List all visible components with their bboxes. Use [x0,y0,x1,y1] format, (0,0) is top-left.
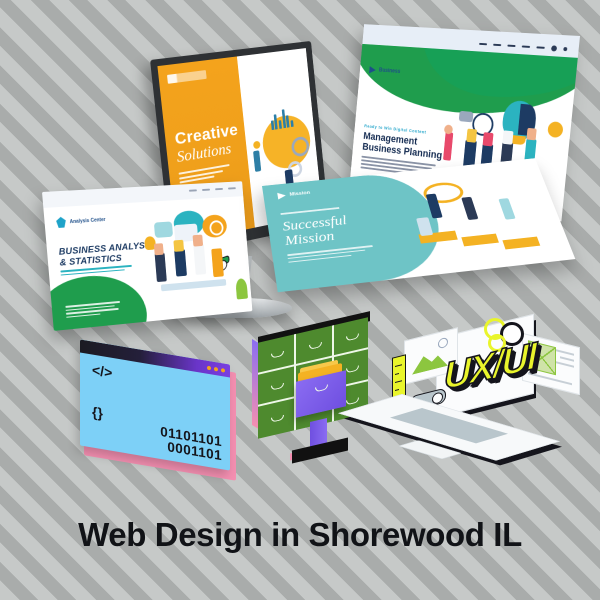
person-figure [502,130,513,144]
person-figure [498,198,515,220]
brand-triangle-icon [277,192,286,200]
speech-bubble-icon [459,111,474,123]
image-canvas: Creative Solutions [0,0,600,600]
brand-label: Mission [289,190,310,197]
drawer-handle-icon [271,351,284,359]
person-figure [443,132,453,161]
speech-bubble-icon [154,221,173,238]
window-dot-icon[interactable] [214,366,218,371]
bar-chart-icon [270,108,294,130]
brand-logo-icon [167,70,207,84]
business-analysis-statistics-page: Analysis Center BUSINESS ANALYSIS & STAT… [42,192,278,352]
meeting-illustration [131,204,250,319]
step-block [461,234,499,247]
file-cabinet-monitor [252,324,387,474]
drawer-handle-icon [346,365,359,373]
person-figure [155,253,167,282]
person-figure [193,244,206,275]
brand-mark-icon [56,217,67,228]
coin-icon [547,121,564,138]
page-title: Web Design in Shorewood IL [0,516,600,554]
table-surface [161,279,227,291]
person-figure [193,235,204,247]
mountain-image-icon [412,346,448,375]
mission-illustration [400,168,569,270]
person-figure [174,249,187,276]
plant-icon [235,278,248,299]
curly-brace-icon: {} [92,403,103,421]
drawer-handle-icon [346,333,359,341]
green-page-nav[interactable] [479,41,568,52]
nav-avatar-icon[interactable] [551,45,557,51]
brand-label: Analysis Center [69,217,105,225]
person-figure [466,129,477,143]
drawer-handle-icon [271,415,284,423]
person-figure [154,243,164,255]
person-figure [173,240,184,252]
nav-menu-icon[interactable] [563,47,567,51]
drawer-handle-icon [271,383,284,391]
analysis-browser-bar [42,181,243,208]
analysis-green-blob [42,272,150,331]
brand-label: Business [379,68,401,75]
uxui-laptop-illustration: UX/UI [388,318,588,493]
drawer-handle-icon [309,342,322,350]
person-figure [416,217,433,236]
person-figure [483,132,494,146]
code-tag-icon: </> [92,362,112,381]
person-figure [211,248,224,277]
brand-triangle-icon [369,66,376,74]
person-figure [461,197,478,220]
window-dot-icon[interactable] [221,368,225,373]
successful-mission-page: Mission Successful Mission [262,186,562,326]
binary-text: 01101101 0001101 [160,425,222,463]
person-figure [526,128,536,141]
analysis-nav[interactable] [189,187,236,192]
code-browser-window: </> {} 01101101 0001101 [80,352,260,482]
sun-icon [438,337,448,349]
window-dot-icon[interactable] [207,365,211,370]
drawer-handle-icon [346,397,359,405]
person-figure [253,151,261,173]
step-block [502,237,540,250]
analysis-brand: Analysis Center [56,214,106,228]
window-controls[interactable] [207,365,225,372]
analysis-card: Analysis Center BUSINESS ANALYSIS & STAT… [42,181,252,331]
drawer-handle-icon [315,384,328,392]
person-figure [253,140,261,149]
